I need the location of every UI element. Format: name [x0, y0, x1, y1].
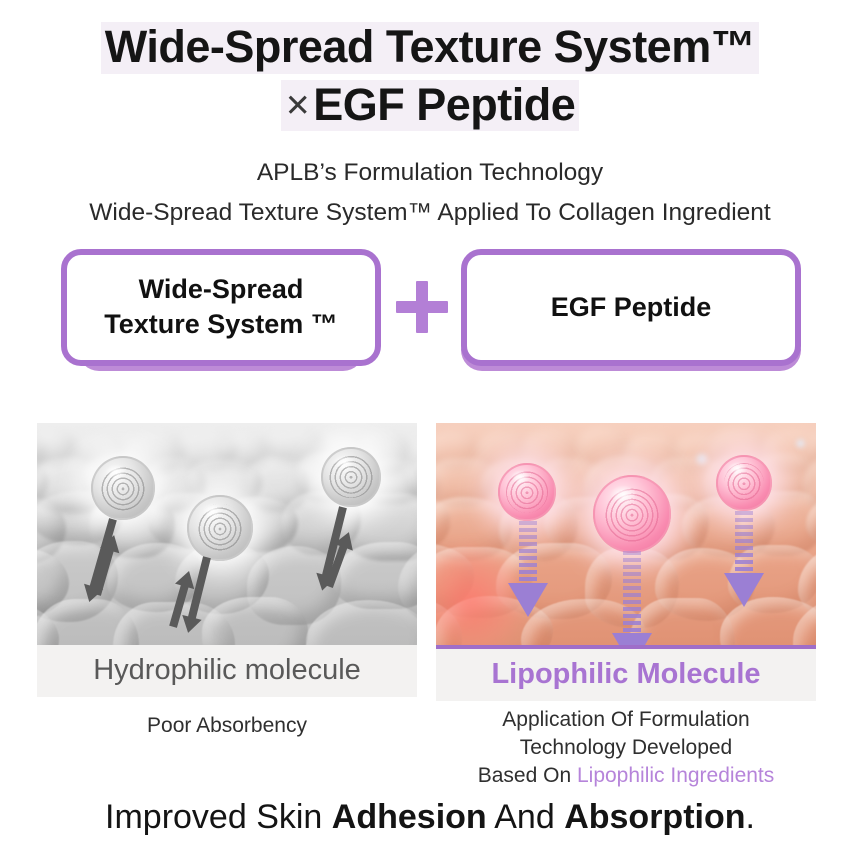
tagline-bold-adhesion: Adhesion — [332, 798, 487, 836]
panel-hydrophilic: Hydrophilic molecule — [37, 423, 417, 697]
panel-lipophilic: Lipophilic Molecule — [436, 423, 816, 701]
title-line-1: Wide-Spread Texture System™ — [0, 22, 860, 74]
card-egf-peptide-title: EGF Peptide — [551, 290, 712, 325]
title-line-2-group: ✕EGF Peptide — [281, 80, 580, 132]
subcaption-lipophilic-line3-prefix: Based On — [478, 764, 577, 787]
title-line-2: ✕EGF Peptide — [0, 80, 860, 132]
bottom-tagline: Improved Skin Adhesion And Absorption. — [0, 798, 860, 837]
sparkle — [794, 437, 807, 450]
tagline-part-3: . — [746, 798, 755, 836]
panel-hydrophilic-illustration — [37, 423, 417, 645]
subtitle-line-2: Wide-Spread Texture System™ Applied To C… — [0, 193, 860, 233]
molecule-bubble-gray — [187, 495, 253, 561]
card-texture-system-title-line1: Wide-Spread — [139, 272, 304, 307]
subcaption-hydrophilic: Poor Absorbency — [37, 712, 417, 740]
skin-cell — [202, 597, 308, 645]
card-texture-system-title-line2: Texture System ™ — [104, 307, 338, 342]
bubble-highlight — [202, 503, 224, 519]
card-egf-peptide: Ingredients Of Peptide EGF Peptide — [461, 249, 801, 366]
card-texture-system: Texture Technology Wide-Spread Texture S… — [61, 249, 381, 366]
sparkle — [694, 451, 710, 467]
subtitle: APLB’s Formulation Technology Wide-Sprea… — [0, 153, 860, 232]
formula-cards-row: Texture Technology Wide-Spread Texture S… — [0, 249, 860, 411]
card-texture-system-box: Wide-Spread Texture System ™ — [61, 249, 381, 366]
tagline-part-2: And — [487, 798, 565, 836]
arrow-absorb-left — [508, 521, 548, 617]
plus-icon — [396, 281, 448, 333]
arrow-absorb-mid — [612, 551, 652, 645]
molecule-bubble-gray — [91, 456, 155, 520]
title-line-2-text: EGF Peptide — [313, 79, 575, 130]
panel-lipophilic-caption: Lipophilic Molecule — [436, 645, 816, 701]
skin-cells-gray — [37, 423, 417, 645]
tagline-part-1: Improved Skin — [105, 798, 332, 836]
subcaption-lipophilic-line3-accent: Lipophilic Ingredients — [577, 764, 774, 787]
bubble-highlight — [334, 455, 354, 469]
subcaption-lipophilic-line3: Based On Lipophilic Ingredients — [436, 762, 816, 790]
molecule-bubble-pink — [593, 475, 671, 553]
plus-icon-vertical-bar — [416, 281, 428, 333]
page-title: Wide-Spread Texture System™ ✕EGF Peptide — [0, 0, 860, 131]
subcaption-lipophilic-line1: Application Of Formulation — [436, 706, 816, 734]
molecule-bubble-gray — [321, 447, 381, 507]
panel-subcaptions: Poor Absorbency Application Of Formulati… — [0, 706, 860, 796]
bubble-highlight — [610, 485, 637, 504]
skin-cells-pink — [436, 423, 816, 645]
title-line-1-text: Wide-Spread Texture System™ — [101, 22, 759, 74]
comparison-panels: Hydrophilic molecule Lipophilic Molecule — [0, 423, 860, 698]
card-egf-peptide-box: EGF Peptide — [461, 249, 801, 366]
subtitle-line-1: APLB’s Formulation Technology — [0, 153, 860, 193]
tagline-bold-absorption: Absorption — [564, 798, 745, 836]
arrow-absorb-right — [724, 511, 764, 607]
subcaption-lipophilic: Application Of Formulation Technology De… — [436, 706, 816, 790]
panel-hydrophilic-caption: Hydrophilic molecule — [37, 645, 417, 697]
subcaption-lipophilic-line2: Technology Developed — [436, 734, 816, 762]
cross-icon: ✕ — [285, 88, 313, 123]
molecule-bubble-pink — [716, 455, 772, 511]
molecule-bubble-pink — [498, 463, 556, 521]
panel-lipophilic-illustration — [436, 423, 816, 645]
